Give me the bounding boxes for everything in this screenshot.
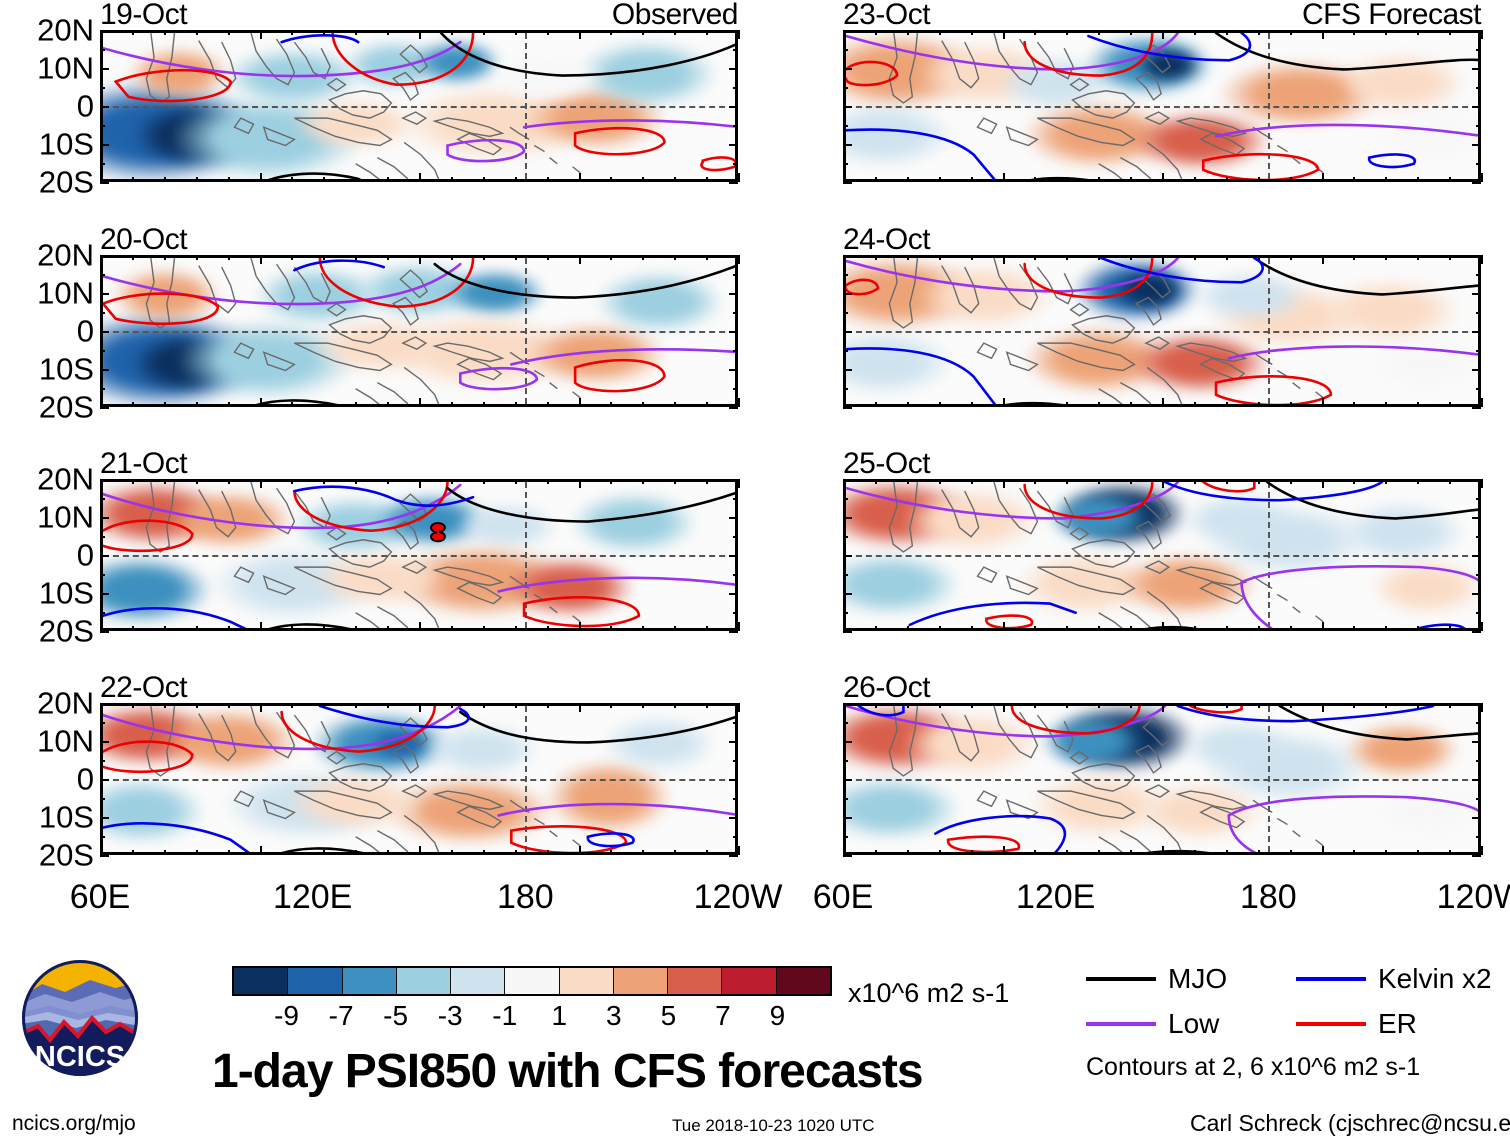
y-tick (729, 479, 738, 481)
x-tick (260, 398, 262, 407)
y-tick (733, 125, 738, 127)
x-tick (355, 850, 357, 855)
x-tick (1481, 173, 1483, 182)
y-tick (733, 87, 738, 89)
contour-mjo (1216, 33, 1481, 69)
x-tick (610, 30, 612, 35)
ncics-logo: NCICS (20, 958, 140, 1078)
colorbar-segment-9 (722, 968, 776, 994)
contour-kelvin (846, 348, 999, 407)
x-tick (738, 30, 740, 39)
y-tick (100, 574, 105, 576)
x-tick (1003, 622, 1005, 631)
x-tick (451, 30, 453, 35)
x-tick (610, 402, 612, 407)
y-tick (100, 817, 109, 819)
x-tick (451, 402, 453, 407)
x-tick (132, 255, 134, 260)
x-tick (1098, 703, 1100, 708)
x-tick (1258, 255, 1260, 260)
x-tick (939, 177, 941, 182)
y-tick (100, 30, 109, 32)
y-tick-10S: 10S (39, 129, 94, 160)
x-tick (843, 398, 845, 407)
contour-kelvin (1165, 482, 1382, 500)
contour-mjo (435, 264, 738, 297)
x-tick (323, 626, 325, 631)
footer-url[interactable]: ncics.org/mjo (12, 1112, 136, 1136)
panel-date-label: 20-Oct (100, 225, 187, 255)
wave-contours (846, 482, 1481, 631)
x-tick (132, 479, 134, 484)
map-area[interactable] (100, 30, 738, 182)
x-tick (1226, 402, 1228, 407)
x-tick (939, 703, 941, 708)
x-tick (674, 255, 676, 260)
x-tick (196, 402, 198, 407)
x-tick (323, 703, 325, 708)
x-tick (1290, 177, 1292, 182)
y-tick (100, 68, 109, 70)
x-tick (260, 703, 262, 712)
y-tick (1476, 612, 1481, 614)
y-tick (843, 30, 852, 32)
x-tick (971, 255, 973, 260)
x-tick (1290, 850, 1292, 855)
x-tick (674, 626, 676, 631)
x-tick (706, 850, 708, 855)
y-tick-20N: 20N (37, 688, 94, 719)
y-tick (729, 30, 738, 32)
x-tick-label-120E: 120E (273, 880, 352, 914)
y-tick (1472, 182, 1481, 184)
y-tick (1476, 312, 1481, 314)
y-tick (1472, 255, 1481, 257)
y-tick (1472, 144, 1481, 146)
x-tick (1417, 850, 1419, 855)
x-tick (323, 30, 325, 35)
x-tick (907, 850, 909, 855)
y-tick (100, 703, 109, 705)
y-tick-20N: 20N (37, 240, 94, 271)
colorbar-segment-6 (560, 968, 614, 994)
y-tick (843, 536, 848, 538)
y-tick (1472, 779, 1481, 781)
x-tick-label-180: 180 (1240, 880, 1297, 914)
x-tick (843, 846, 845, 855)
x-tick (1481, 255, 1483, 264)
x-tick (1066, 703, 1068, 708)
x-tick (260, 173, 262, 182)
x-tick (971, 30, 973, 35)
x-tick (196, 255, 198, 260)
panel-20-oct: 20-Oct20N10N010S20S (100, 255, 738, 407)
map-area[interactable] (100, 703, 738, 855)
x-axis-right: 60E120E180120W (843, 880, 1481, 920)
y-tick (1472, 369, 1481, 371)
x-tick (547, 626, 549, 631)
y-tick (729, 255, 738, 257)
y-tick-20N: 20N (37, 464, 94, 495)
y-tick (100, 49, 105, 51)
x-tick (971, 626, 973, 631)
x-tick (1417, 30, 1419, 35)
x-tick (419, 173, 421, 182)
x-tick (132, 626, 134, 631)
panel-23-oct: 23-OctCFS Forecast (843, 30, 1481, 182)
x-tick (323, 177, 325, 182)
y-tick (733, 574, 738, 576)
y-tick (733, 798, 738, 800)
x-tick (451, 479, 453, 484)
y-tick (843, 255, 852, 257)
x-tick (706, 255, 708, 260)
y-tick (100, 722, 105, 724)
x-tick (1481, 479, 1483, 488)
x-tick (1481, 846, 1483, 855)
y-tick (100, 536, 105, 538)
x-tick (164, 255, 166, 260)
x-tick (579, 479, 581, 488)
x-tick (1226, 479, 1228, 484)
x-tick (1322, 398, 1324, 407)
x-tick (843, 173, 845, 182)
footer-timestamp: Tue 2018-10-23 1020 UTC (672, 1116, 875, 1136)
y-tick (729, 144, 738, 146)
wave-contours (103, 706, 738, 855)
x-tick (610, 177, 612, 182)
x-tick (228, 177, 230, 182)
contour-low (1216, 125, 1481, 136)
colorbar-tick--3: -3 (438, 1002, 463, 1030)
y-tick-0: 0 (77, 764, 94, 795)
map-area[interactable] (843, 703, 1481, 855)
x-tick (738, 703, 740, 712)
x-tick (642, 402, 644, 407)
x-tick (260, 30, 262, 39)
colorbar-segment-3 (397, 968, 451, 994)
x-tick (1322, 622, 1324, 631)
x-tick (610, 703, 612, 708)
x-tick (1130, 402, 1132, 407)
y-tick (843, 106, 852, 108)
y-tick (843, 144, 852, 146)
y-tick (1476, 388, 1481, 390)
y-tick (843, 163, 848, 165)
x-tick (1130, 626, 1132, 631)
x-tick (1226, 850, 1228, 855)
x-tick (579, 398, 581, 407)
x-tick (260, 479, 262, 488)
y-tick (1476, 798, 1481, 800)
x-tick (355, 177, 357, 182)
x-tick (1258, 626, 1260, 631)
x-tick (515, 402, 517, 407)
legend-note: Contours at 2, 6 x10^6 m2 s-1 (1086, 1055, 1420, 1080)
x-tick (515, 626, 517, 631)
x-tick (387, 479, 389, 484)
y-tick (843, 369, 852, 371)
x-tick (547, 30, 549, 35)
y-tick (729, 555, 738, 557)
y-tick (1472, 555, 1481, 557)
x-tick (610, 255, 612, 260)
x-tick-label-120E: 120E (1016, 880, 1095, 914)
contour-er (1216, 376, 1331, 405)
y-tick (733, 312, 738, 314)
y-tick (100, 163, 105, 165)
x-tick (907, 255, 909, 260)
x-tick (1226, 177, 1228, 182)
colorbar-segment-2 (343, 968, 397, 994)
x-tick (1417, 177, 1419, 182)
colorbar-tick--7: -7 (329, 1002, 354, 1030)
x-tick (1322, 255, 1324, 264)
y-tick (843, 498, 848, 500)
x-tick (1098, 177, 1100, 182)
column-header: CFS Forecast (1302, 0, 1481, 30)
x-tick (875, 402, 877, 407)
x-tick (1194, 255, 1196, 260)
panel-date-label: 22-Oct (100, 673, 187, 703)
x-tick (1385, 30, 1387, 35)
y-tick (843, 836, 848, 838)
x-tick (228, 30, 230, 35)
x-tick (1098, 402, 1100, 407)
x-tick (100, 622, 102, 631)
colorbar-unit-label: x10^6 m2 s-1 (848, 980, 1009, 1007)
colorbar-segment-10 (777, 968, 830, 994)
y-tick (843, 612, 848, 614)
contour-kelvin (282, 35, 359, 42)
y-tick-20S: 20S (39, 840, 94, 871)
x-tick (164, 177, 166, 182)
x-tick (1449, 177, 1451, 182)
contour-er (103, 294, 218, 324)
y-tick (1472, 741, 1481, 743)
map-area[interactable] (843, 30, 1481, 182)
x-tick (228, 255, 230, 260)
colorbar-tick--1: -1 (492, 1002, 517, 1030)
y-tick-10S: 10S (39, 578, 94, 609)
x-tick (228, 703, 230, 708)
x-tick (100, 846, 102, 855)
x-tick (1194, 479, 1196, 484)
x-tick (323, 850, 325, 855)
contour-mjo (460, 712, 738, 742)
x-tick (387, 255, 389, 260)
map-area[interactable] (843, 479, 1481, 631)
x-tick (939, 30, 941, 35)
x-tick (579, 622, 581, 631)
y-tick (1476, 574, 1481, 576)
legend-swatch (1296, 1022, 1366, 1026)
colorbar-tick-9: 9 (770, 1002, 786, 1030)
x-tick (387, 626, 389, 631)
contour-er (986, 616, 1032, 628)
x-tick (1003, 846, 1005, 855)
legend-item-low: Low (1086, 1010, 1219, 1038)
x-tick (738, 173, 740, 182)
x-tick (483, 626, 485, 631)
x-tick (642, 255, 644, 260)
panel-24-oct: 24-Oct (843, 255, 1481, 407)
y-tick (100, 612, 105, 614)
x-tick (451, 703, 453, 708)
y-tick (729, 182, 738, 184)
contour-er (846, 62, 897, 85)
x-tick (1417, 479, 1419, 484)
x-tick (1034, 30, 1036, 35)
x-tick (1481, 622, 1483, 631)
y-tick (843, 574, 848, 576)
x-tick (1003, 255, 1005, 264)
y-tick (100, 388, 105, 390)
y-tick (100, 125, 105, 127)
y-tick (1472, 631, 1481, 633)
x-tick (907, 703, 909, 708)
x-tick (547, 402, 549, 407)
legend-label: Low (1168, 1010, 1219, 1038)
x-tick (706, 402, 708, 407)
y-tick (843, 760, 848, 762)
y-tick (100, 631, 109, 633)
y-tick (100, 293, 109, 295)
x-tick (515, 177, 517, 182)
x-tick (547, 479, 549, 484)
y-tick (733, 536, 738, 538)
column-header: Observed (612, 0, 738, 30)
contour-low (499, 804, 738, 815)
x-tick (939, 850, 941, 855)
x-tick (451, 255, 453, 260)
colorbar-segment-4 (451, 968, 505, 994)
contour-low (846, 706, 1165, 736)
legend-label: Kelvin x2 (1378, 965, 1492, 993)
x-tick (875, 177, 877, 182)
y-tick (1472, 479, 1481, 481)
x-tick (642, 703, 644, 708)
x-tick (1353, 402, 1355, 407)
y-tick (100, 760, 105, 762)
y-tick (843, 517, 852, 519)
legend-label: MJO (1168, 965, 1227, 993)
y-tick (1472, 106, 1481, 108)
x-tick (907, 177, 909, 182)
colorbar-tick-labels: -9-7-5-3-113579 (232, 1002, 832, 1032)
contour-er (1012, 706, 1140, 733)
map-area[interactable] (843, 255, 1481, 407)
x-tick (228, 626, 230, 631)
y-tick (729, 407, 738, 409)
x-tick (1003, 398, 1005, 407)
y-tick (100, 498, 105, 500)
x-tick (1385, 177, 1387, 182)
x-tick (1385, 402, 1387, 407)
y-tick (733, 388, 738, 390)
y-tick (1472, 703, 1481, 705)
x-tick (1130, 30, 1132, 35)
y-tick-20S: 20S (39, 616, 94, 647)
x-tick (291, 703, 293, 708)
x-tick (547, 177, 549, 182)
x-tick (387, 850, 389, 855)
contour-kelvin (1088, 33, 1250, 60)
x-tick (323, 255, 325, 260)
x-tick (515, 850, 517, 855)
x-tick (547, 703, 549, 708)
x-tick (451, 626, 453, 631)
x-tick (939, 479, 941, 484)
x-tick (547, 850, 549, 855)
x-tick (164, 703, 166, 708)
y-tick (1472, 817, 1481, 819)
x-tick (674, 479, 676, 484)
y-tick-10N: 10N (37, 278, 94, 309)
x-tick (1162, 30, 1164, 39)
y-tick (729, 741, 738, 743)
x-tick (579, 173, 581, 182)
contour-mjo (1280, 706, 1481, 739)
x-tick (1194, 177, 1196, 182)
x-tick (419, 703, 421, 712)
x-tick (1258, 402, 1260, 407)
x-tick (515, 703, 517, 708)
y-tick (1476, 536, 1481, 538)
contour-er (575, 360, 664, 391)
x-tick (706, 703, 708, 708)
contour-mjo (269, 848, 384, 855)
x-tick (642, 850, 644, 855)
y-tick (843, 312, 848, 314)
x-tick (355, 479, 357, 484)
y-tick-10N: 10N (37, 726, 94, 757)
y-tick (843, 87, 848, 89)
wave-contours (846, 258, 1481, 407)
x-tick (132, 402, 134, 407)
contour-kelvin (859, 706, 904, 715)
contour-low (846, 258, 1178, 291)
contour-legend: MJOKelvin x2LowER (1086, 965, 1506, 1055)
x-tick (1449, 479, 1451, 484)
y-tick (100, 779, 109, 781)
x-tick (515, 255, 517, 260)
x-tick (1034, 626, 1036, 631)
legend-swatch (1086, 977, 1156, 981)
x-tick (1449, 703, 1451, 708)
y-tick (100, 479, 109, 481)
y-tick (1476, 498, 1481, 500)
x-tick (419, 479, 421, 488)
map-area[interactable] (100, 479, 738, 631)
x-tick-label-120W: 120W (694, 880, 783, 914)
x-tick (355, 626, 357, 631)
x-tick (875, 30, 877, 35)
panel-22-oct: 22-Oct20N10N010S20S (100, 703, 738, 855)
x-tick (1481, 703, 1483, 712)
x-tick (260, 846, 262, 855)
y-tick (100, 87, 105, 89)
colorbar-tick-5: 5 (661, 1002, 677, 1030)
x-tick (291, 30, 293, 35)
y-tick (100, 255, 109, 257)
y-tick (1476, 87, 1481, 89)
contour-low (103, 264, 460, 304)
y-tick (1476, 722, 1481, 724)
x-tick (1162, 173, 1164, 182)
x-tick (1003, 173, 1005, 182)
map-area[interactable] (100, 255, 738, 407)
